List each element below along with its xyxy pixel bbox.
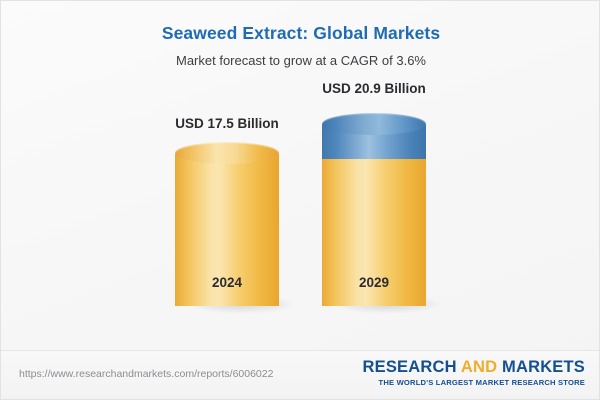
category-label-2029: 2029 — [359, 275, 389, 290]
footer: https://www.researchandmarkets.com/repor… — [1, 350, 600, 399]
report-url[interactable]: https://www.researchandmarkets.com/repor… — [19, 368, 273, 380]
logo-word-research: RESEARCH — [363, 358, 461, 376]
bar-cap-2024 — [175, 142, 279, 164]
logo-word-and: AND — [461, 358, 502, 376]
logo-wordmark: RESEARCH AND MARKETS — [363, 358, 586, 376]
chart-plot-area: USD 17.5 Billion 2024 USD 20.9 Billion 2… — [1, 1, 600, 351]
infographic-card: Seaweed Extract: Global Markets Market f… — [0, 0, 600, 400]
bar-cap-2029 — [322, 113, 426, 135]
category-label-2024: 2024 — [212, 275, 242, 290]
data-label-2029: USD 20.9 Billion — [322, 81, 426, 96]
logo-tagline: THE WORLD'S LARGEST MARKET RESEARCH STOR… — [363, 378, 586, 387]
brand-logo[interactable]: RESEARCH AND MARKETS THE WORLD'S LARGEST… — [363, 358, 586, 387]
data-label-2024: USD 17.5 Billion — [175, 116, 279, 131]
logo-word-markets: MARKETS — [502, 358, 585, 376]
